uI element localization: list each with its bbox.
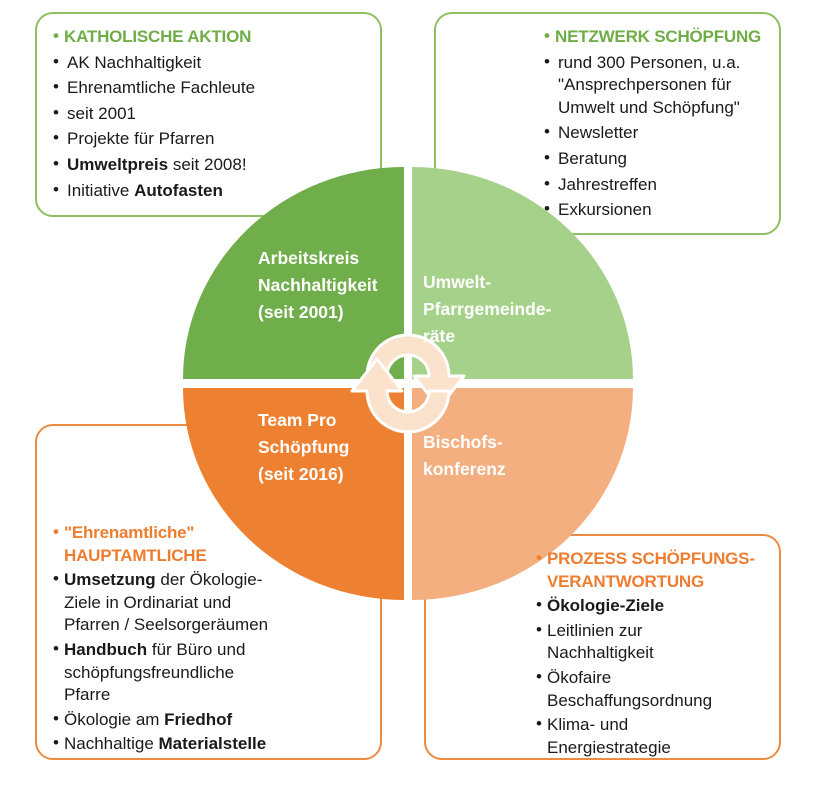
prozess-schoepfungsverantwortung-list: PROZESS SCHÖPFUNGS- VERANTWORTUNG Ökolog…	[536, 548, 763, 759]
heading-line-2: HAUPTAMTLICHE	[64, 545, 364, 568]
heading-line-2: VERANTWORTUNG	[547, 571, 763, 594]
list-item-line-2: Ziele in Ordinariat und	[64, 592, 364, 615]
diagram-canvas: Arbeitskreis Nachhaltigkeit (seit 2001) …	[0, 0, 815, 791]
list-item: Projekte für Pfarren	[53, 128, 364, 151]
list-item: Nachhaltige Materialstelle	[53, 733, 364, 756]
katholische-aktion-heading: KATHOLISCHE AKTION	[53, 26, 364, 49]
list-item: Ökofaire Beschaffungsordnung	[536, 667, 763, 712]
heading-line-1: "Ehrenamtliche"	[64, 522, 364, 545]
list-item: Newsletter	[544, 122, 763, 145]
list-item: Ökologie-Ziele	[536, 595, 763, 618]
list-item-line-2: Nachhaltigkeit	[547, 642, 763, 665]
list-item-emphasis: Friedhof	[164, 710, 232, 729]
list-item-emphasis: Umweltpreis	[67, 155, 168, 174]
list-item-line-1: der Ökologie-	[160, 570, 262, 589]
list-item-line-3: Umwelt und Schöpfung"	[558, 97, 763, 120]
list-item-text: Initiative	[67, 181, 134, 200]
list-item: Leitlinien zur Nachhaltigkeit	[536, 620, 763, 665]
list-item: seit 2001	[53, 103, 364, 126]
callout-katholische-aktion: KATHOLISCHE AKTION AK Nachhaltigkeit Ehr…	[35, 12, 382, 217]
list-item: Initiative Autofasten	[53, 180, 364, 203]
list-item-line-2: Energiestrategie	[547, 737, 763, 760]
list-item-line-3: Pfarren / Seelsorgeräumen	[64, 614, 364, 637]
list-item: Umsetzung der Ökologie- Ziele in Ordinar…	[53, 569, 364, 637]
list-item-line-2: schöpfungsfreundliche	[64, 662, 364, 685]
list-item-emphasis: Umsetzung	[64, 570, 156, 589]
list-item-emphasis: Handbuch	[64, 640, 147, 659]
list-item: Ehrenamtliche Fachleute	[53, 77, 364, 100]
list-item: Klima- und Energiestrategie	[536, 714, 763, 759]
list-item: AK Nachhaltigkeit	[53, 52, 364, 75]
list-item-text: seit 2008!	[168, 155, 246, 174]
list-item-line-1: für Büro und	[152, 640, 246, 659]
katholische-aktion-list: KATHOLISCHE AKTION AK Nachhaltigkeit Ehr…	[53, 26, 364, 202]
prozess-schoepfungsverantwortung-heading: PROZESS SCHÖPFUNGS- VERANTWORTUNG	[536, 548, 763, 593]
list-item: Beratung	[544, 148, 763, 171]
hauptamtliche-list: "Ehrenamtliche" HAUPTAMTLICHE Umsetzung …	[53, 522, 364, 756]
list-item: Exkursionen	[544, 199, 763, 222]
list-item-line-2: "Ansprechpersonen für	[558, 74, 763, 97]
list-item: Ökologie am Friedhof	[53, 709, 364, 732]
list-item-text: Ökologie am	[64, 710, 164, 729]
list-item-line-1: Klima- und	[547, 714, 763, 737]
list-item-line-1: rund 300 Personen, u.a.	[558, 52, 763, 75]
netzwerk-schoepfung-heading: NETZWERK SCHÖPFUNG	[544, 26, 763, 49]
heading-line-1: PROZESS SCHÖPFUNGS-	[547, 548, 763, 571]
hauptamtliche-heading: "Ehrenamtliche" HAUPTAMTLICHE	[53, 522, 364, 567]
list-item-emphasis: Autofasten	[134, 181, 223, 200]
list-item-emphasis: Materialstelle	[159, 734, 267, 753]
list-item-line-1: Ökofaire	[547, 667, 763, 690]
list-item: Jahrestreffen	[544, 174, 763, 197]
list-item: Handbuch für Büro und schöpfungsfreundli…	[53, 639, 364, 707]
list-item-emphasis: Ökologie-Ziele	[547, 596, 664, 615]
list-item-text: Nachhaltige	[64, 734, 159, 753]
list-item: rund 300 Personen, u.a. "Ansprechpersone…	[544, 52, 763, 120]
list-item-line-2: Beschaffungsordnung	[547, 690, 763, 713]
list-item-line-3: Pfarre	[64, 684, 364, 707]
list-item: Umweltpreis seit 2008!	[53, 154, 364, 177]
list-item-line-1: Leitlinien zur	[547, 620, 763, 643]
netzwerk-schoepfung-list: NETZWERK SCHÖPFUNG rund 300 Personen, u.…	[544, 26, 763, 222]
